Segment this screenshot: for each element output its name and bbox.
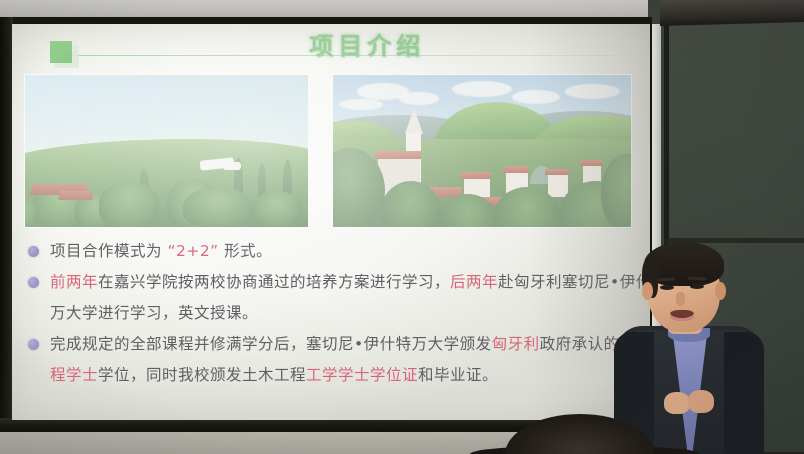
- presenter-eye-right: [690, 284, 704, 289]
- presentation-slide: 项目介绍: [12, 24, 650, 420]
- bullet-3-line2-seg-4: 和毕业证。: [418, 366, 498, 384]
- bullet-2-line-2: 万大学进行学习，英文授课。: [50, 298, 258, 329]
- presenter-eye-left: [660, 285, 674, 290]
- ceiling-beam: [660, 0, 804, 26]
- bullet-1-seg-1: 项目合作模式为: [50, 242, 167, 260]
- bullet-continuation: 程学士学位，同时我校颁发土木工程工学学士学位证和毕业证。: [22, 360, 642, 391]
- tree-cluster-left: [25, 127, 308, 227]
- presenter-hand-right: [688, 390, 714, 413]
- bullet-2-seg-2: 在嘉兴学院按两校协商通过的培养方案进行学习，: [98, 273, 450, 291]
- bullet-3-seg-1: 完成规定的全部课程并修满学分后，塞切尼•伊什特万大学颁发: [50, 335, 492, 353]
- bullet-3-seg-3: 政府承认的: [540, 335, 620, 353]
- presenter-ear-right: [715, 282, 726, 300]
- presenter-hand-left: [664, 392, 690, 414]
- slide-image-left: [25, 75, 308, 227]
- presenter: [614, 240, 764, 454]
- bullet-2-seg-3: 后两年: [450, 273, 498, 291]
- title-accent-square: [50, 41, 72, 63]
- bullet-item: 前两年在嘉兴学院按两校协商通过的培养方案进行学习，后两年赴匈牙利塞切尼•伊什特: [22, 267, 642, 298]
- bullet-item: 项目合作模式为 “2+2” 形式。: [22, 236, 642, 267]
- slide-image-right: [333, 75, 631, 227]
- slide-body-text: 项目合作模式为 “2+2” 形式。 前两年在嘉兴学院按两校协商通过的培养方案进行…: [22, 236, 642, 391]
- presenter-ear-left: [642, 282, 653, 300]
- lecture-photo-scene: 项目介绍: [0, 0, 804, 454]
- bullet-2-seg-1: 前两年: [50, 273, 98, 291]
- bullet-dot-icon: [28, 277, 39, 288]
- projection-screen: 项目介绍: [12, 24, 650, 420]
- bullet-dot-icon: [28, 339, 39, 350]
- slide-title: 项目介绍: [257, 26, 477, 61]
- bullet-3-line2-seg-1: 程学士: [50, 366, 98, 384]
- bullet-dot-icon: [28, 246, 39, 257]
- bullet-1-seg-2: “2+2”: [167, 242, 218, 260]
- presenter-nose: [676, 292, 685, 306]
- bullet-3-line2-seg-2: 学位，同时我校颁发土木工程: [98, 366, 306, 384]
- presenter-shoulder-right: [724, 332, 764, 454]
- bullet-continuation: 万大学进行学习，英文授课。: [22, 298, 642, 329]
- church-spire: [405, 108, 423, 134]
- bullet-item: 完成规定的全部课程并修满学分后，塞切尼•伊什特万大学颁发匈牙利政府承认的土木工: [22, 329, 642, 360]
- bullet-1-seg-3: 形式。: [219, 242, 272, 260]
- bullet-3-seg-2: 匈牙利: [492, 335, 540, 353]
- bullet-3-line2-seg-3: 工学学士学位证: [306, 366, 418, 384]
- presenter-mouth: [670, 310, 694, 321]
